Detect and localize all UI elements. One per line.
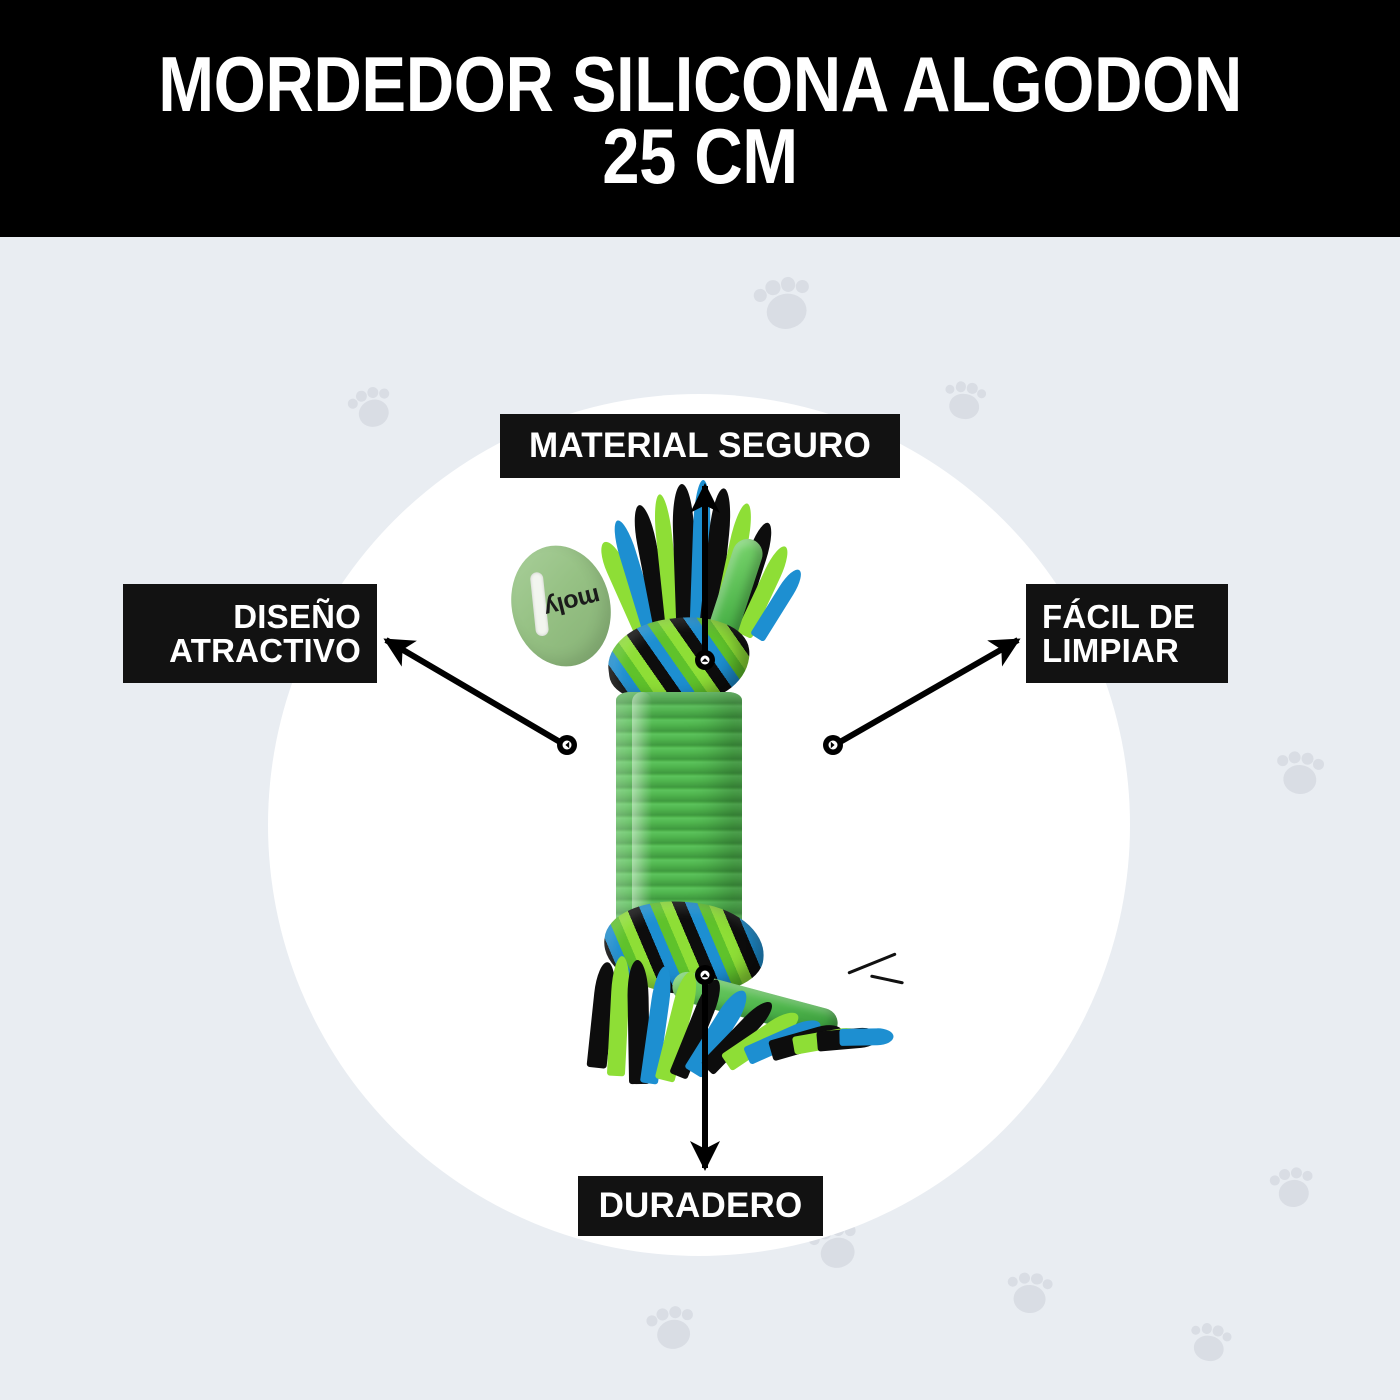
paw-toe [1018, 1272, 1030, 1284]
paw-toe [668, 1305, 682, 1319]
paw-print-icon [940, 373, 990, 428]
paw-toe [1042, 1278, 1053, 1289]
paw-pad [654, 1317, 692, 1351]
paw-pad [1281, 763, 1317, 795]
callout-line: DISEÑO [233, 600, 361, 634]
paw-toe [378, 387, 390, 399]
callout-line: MATERIAL SEGURO [529, 428, 871, 464]
paw-toe [955, 381, 967, 393]
paw-toe [976, 388, 986, 398]
paw-toe [1269, 1175, 1280, 1186]
paw-toe [1313, 758, 1325, 770]
paw-print-icon [1267, 1159, 1320, 1216]
header-banner: MORDEDOR SILICONA ALGODON 25 CM [0, 0, 1400, 237]
infographic-page: moly [0, 0, 1400, 1400]
paw-pad [764, 290, 810, 332]
paw-print-icon [643, 1296, 702, 1360]
paw-toe [1302, 1170, 1313, 1181]
paw-toe [1007, 1276, 1018, 1287]
paw-toe [1290, 1167, 1302, 1179]
product-image: moly [500, 470, 920, 1170]
paw-pad [948, 392, 980, 421]
paw-toe [1031, 1273, 1043, 1285]
callout-facil-de-limpiar[interactable]: FÁCIL DE LIMPIAR [1026, 584, 1228, 683]
paw-toe [1288, 751, 1301, 764]
callout-duradero[interactable]: DURADERO [578, 1176, 823, 1236]
paw-toe [1200, 1322, 1213, 1335]
paw-toe [795, 279, 810, 294]
paw-toe [681, 1308, 693, 1320]
rope-stray-thread [847, 952, 896, 974]
paw-toe [780, 276, 797, 293]
paw-print-icon [1004, 1264, 1056, 1321]
paw-toe [764, 279, 781, 296]
callout-diseno-atractivo[interactable]: DISEÑO ATRACTIVO [123, 584, 377, 683]
silicone-ribbed-tube [616, 692, 742, 928]
paw-print-icon [1183, 1314, 1236, 1371]
paw-toe [1190, 1324, 1201, 1335]
paw-toe [656, 1307, 670, 1321]
paw-toe [1221, 1331, 1232, 1342]
callout-line: ATRACTIVO [169, 634, 361, 668]
paw-pad [1192, 1333, 1226, 1364]
paw-toe [1278, 1169, 1290, 1181]
paw-toe [945, 384, 955, 394]
rope-stray-thread [870, 974, 904, 984]
paw-pad [1013, 1284, 1047, 1314]
rope-strand [839, 1028, 893, 1046]
paw-pad [1277, 1178, 1311, 1209]
paw-print-icon [1272, 743, 1328, 804]
rope-fringe-bottom [584, 956, 894, 1116]
callout-line: LIMPIAR [1042, 634, 1179, 668]
paw-toe [1277, 755, 1289, 767]
paw-print-icon [749, 264, 822, 342]
page-title: MORDEDOR SILICONA ALGODON 25 CM [158, 45, 1242, 193]
callout-line: FÁCIL DE [1042, 600, 1195, 634]
callout-material-seguro[interactable]: MATERIAL SEGURO [500, 414, 900, 478]
paw-toe [366, 386, 380, 400]
callout-line: DURADERO [599, 1188, 803, 1224]
paw-print-icon [342, 376, 402, 439]
